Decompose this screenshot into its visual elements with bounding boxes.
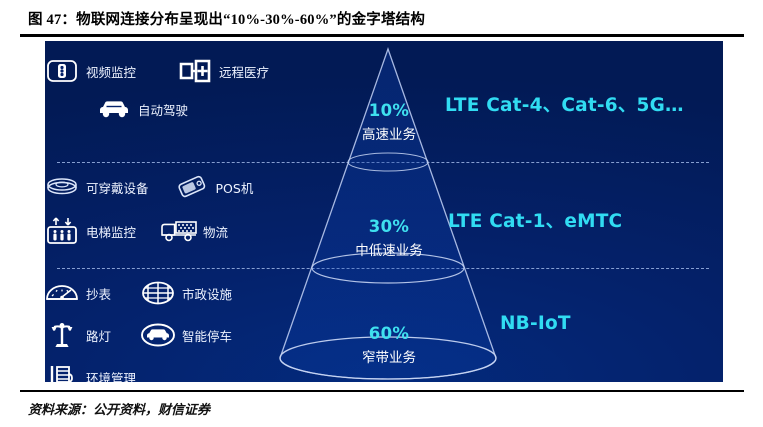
technology-label-narrowband: NB-IoT (500, 313, 571, 334)
tier-applications-narrowband: 抄表 市政设施 (45, 275, 345, 382)
source-note: 资料来源：公开资料，财信证券 (28, 399, 210, 418)
elevator-monitoring-icon (45, 216, 79, 246)
application-label: 物流 (203, 222, 228, 241)
wearable-device-icon (45, 172, 79, 202)
meter-reading-icon (45, 278, 79, 308)
street-lamp-icon (45, 320, 79, 350)
tier-service-name: 窄带业务 (304, 346, 474, 366)
application-label: 抄表 (86, 284, 111, 303)
application-label: 自动驾驶 (138, 100, 188, 119)
application-item-pos-terminal[interactable]: POS机 (175, 172, 254, 202)
application-item-street-lamp[interactable]: 路灯 (45, 320, 111, 350)
application-row: 电梯监控 (45, 213, 345, 249)
video-surveillance-icon (45, 56, 79, 86)
application-label: 环境管理 (86, 368, 136, 383)
tier-service-name: 中低速业务 (304, 239, 474, 259)
application-label: 视频监控 (86, 62, 136, 81)
figure-page: 图 47：物联网连接分布呈现出“10%-30%-60%”的金字塔结构 (0, 0, 763, 427)
application-row: 抄表 市政设施 (45, 275, 345, 311)
tier-applications-medium-low-speed: 可穿戴设备 POS机 (45, 169, 345, 249)
application-label: 可穿戴设备 (86, 178, 149, 197)
autonomous-driving-icon (97, 94, 131, 124)
tier-applications-high-speed: 视频监控 远程医疗 (45, 53, 345, 127)
application-row: 路灯 智能停车 (45, 317, 345, 353)
application-row: 视频监控 远程医疗 (45, 53, 345, 89)
pos-terminal-icon (175, 172, 209, 202)
application-item-wearable-device[interactable]: 可穿戴设备 (45, 172, 149, 202)
smart-parking-icon (141, 320, 175, 350)
application-row: 环境管理 (45, 359, 345, 382)
application-label: 智能停车 (182, 326, 232, 345)
title-rule-top (20, 34, 744, 37)
logistics-truck-icon (162, 216, 196, 246)
tier-service-name: 高速业务 (304, 123, 474, 143)
source-rule-bottom (20, 390, 744, 392)
telemedicine-icon (178, 56, 212, 86)
application-item-autonomous-driving[interactable]: 自动驾驶 (97, 94, 188, 124)
application-label: 市政设施 (182, 284, 232, 303)
application-item-telemedicine[interactable]: 远程医疗 (178, 56, 269, 86)
application-label: POS机 (216, 178, 254, 197)
application-item-meter-reading[interactable]: 抄表 (45, 278, 111, 308)
page-title: 图 47：物联网连接分布呈现出“10%-30%-60%”的金字塔结构 (28, 8, 738, 29)
application-item-logistics[interactable]: 物流 (162, 216, 228, 246)
application-item-video-surveillance[interactable]: 视频监控 (45, 56, 136, 86)
application-item-municipal-facility[interactable]: 市政设施 (141, 278, 232, 308)
technology-label-high-speed: LTE Cat-4、Cat-6、5G… (445, 91, 684, 117)
application-item-smart-parking[interactable]: 智能停车 (141, 320, 232, 350)
application-item-elevator-monitoring[interactable]: 电梯监控 (45, 216, 136, 246)
application-label: 电梯监控 (86, 222, 136, 241)
municipal-facility-icon (141, 278, 175, 308)
application-label: 远程医疗 (219, 62, 269, 81)
application-row: 可穿戴设备 POS机 (45, 169, 345, 205)
tier-percent: 60% (304, 324, 474, 343)
application-item-environment-management[interactable]: 环境管理 (45, 362, 136, 382)
environment-management-icon (45, 362, 79, 382)
diagram-panel: 视频监控 远程医疗 (45, 41, 723, 382)
technology-label-medium-low-speed: LTE Cat-1、eMTC (448, 207, 622, 233)
application-label: 路灯 (86, 326, 111, 345)
cone-label-narrowband: 60% 窄带业务 (304, 324, 474, 366)
